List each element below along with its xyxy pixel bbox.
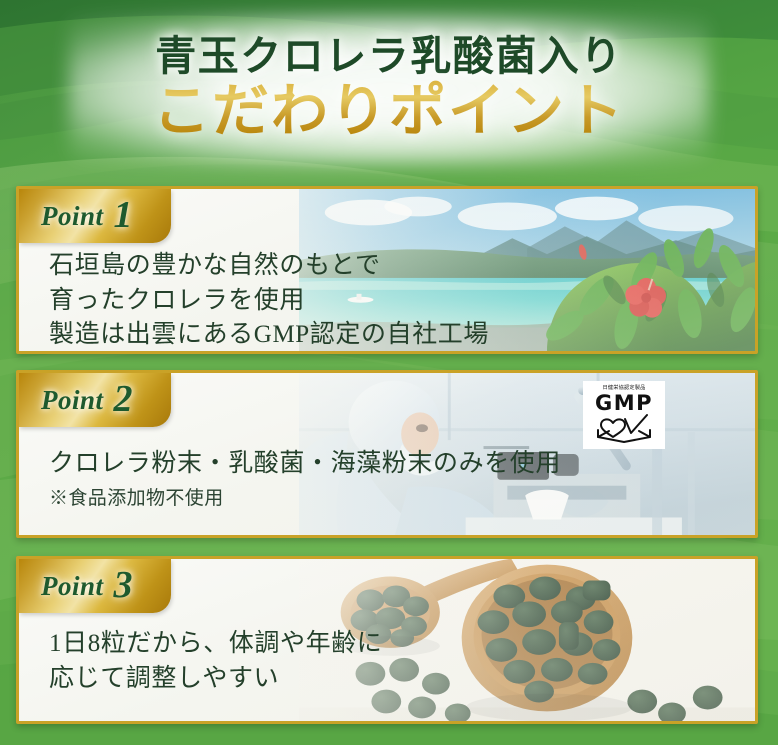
point-number-1: 1 [114, 196, 133, 234]
point-1-line-2: 育ったクロレラを使用 [49, 284, 489, 319]
point-3-line-1: 1日8粒だから、体調や年齢に [49, 627, 382, 662]
point-label-3: Point [41, 571, 104, 602]
point-card-3: Point 3 1日8粒だから、体調や年齢に 応じて調整しやすい [16, 556, 758, 724]
point-number-2: 2 [114, 380, 133, 418]
point-1-line-1: 石垣島の豊かな自然のもとで [49, 249, 489, 284]
point-card-2: 日健栄協認定製品 GMP Point 2 クロレラ粉末・乳酸菌・海藻粉 [16, 370, 758, 538]
point-tab-3: Point 3 [19, 559, 171, 613]
point-tab-1: Point 1 [19, 189, 171, 243]
point-2-line-1: クロレラ粉末・乳酸菌・海藻粉末のみを使用 [49, 447, 561, 482]
point-tab-2: Point 2 [19, 373, 171, 427]
page-title-line1: 青玉クロレラ乳酸菌入り [155, 34, 623, 80]
point-3-body: 1日8粒だから、体調や年齢に 応じて調整しやすい [49, 627, 382, 696]
point-1-line-3: 製造は出雲にあるGMP認定の自社工場 [49, 318, 489, 353]
point-2-note: ※食品添加物不使用 [49, 485, 561, 514]
point-3-line-2: 応じて調整しやすい [49, 662, 382, 697]
point-label-1: Point [41, 201, 104, 232]
heart-in-hands-check-icon [595, 413, 653, 443]
advertisement-canvas: 青玉クロレラ乳酸菌入り こだわりポイント [0, 0, 778, 745]
page-header: 青玉クロレラ乳酸菌入り こだわりポイント [0, 0, 778, 180]
point-1-body: 石垣島の豊かな自然のもとで 育ったクロレラを使用 製造は出雲にあるGMP認定の自… [49, 249, 489, 353]
point-card-1: Point 1 石垣島の豊かな自然のもとで 育ったクロレラを使用 製造は出雲にあ… [16, 186, 758, 354]
page-title-line2: こだわりポイント [153, 78, 625, 145]
point-2-body: クロレラ粉末・乳酸菌・海藻粉末のみを使用 ※食品添加物不使用 [49, 447, 561, 513]
point-number-3: 3 [114, 566, 133, 604]
gmp-certification-badge: 日健栄協認定製品 GMP [583, 381, 665, 449]
gmp-main-text: GMP [595, 392, 653, 414]
point-label-2: Point [41, 385, 104, 416]
